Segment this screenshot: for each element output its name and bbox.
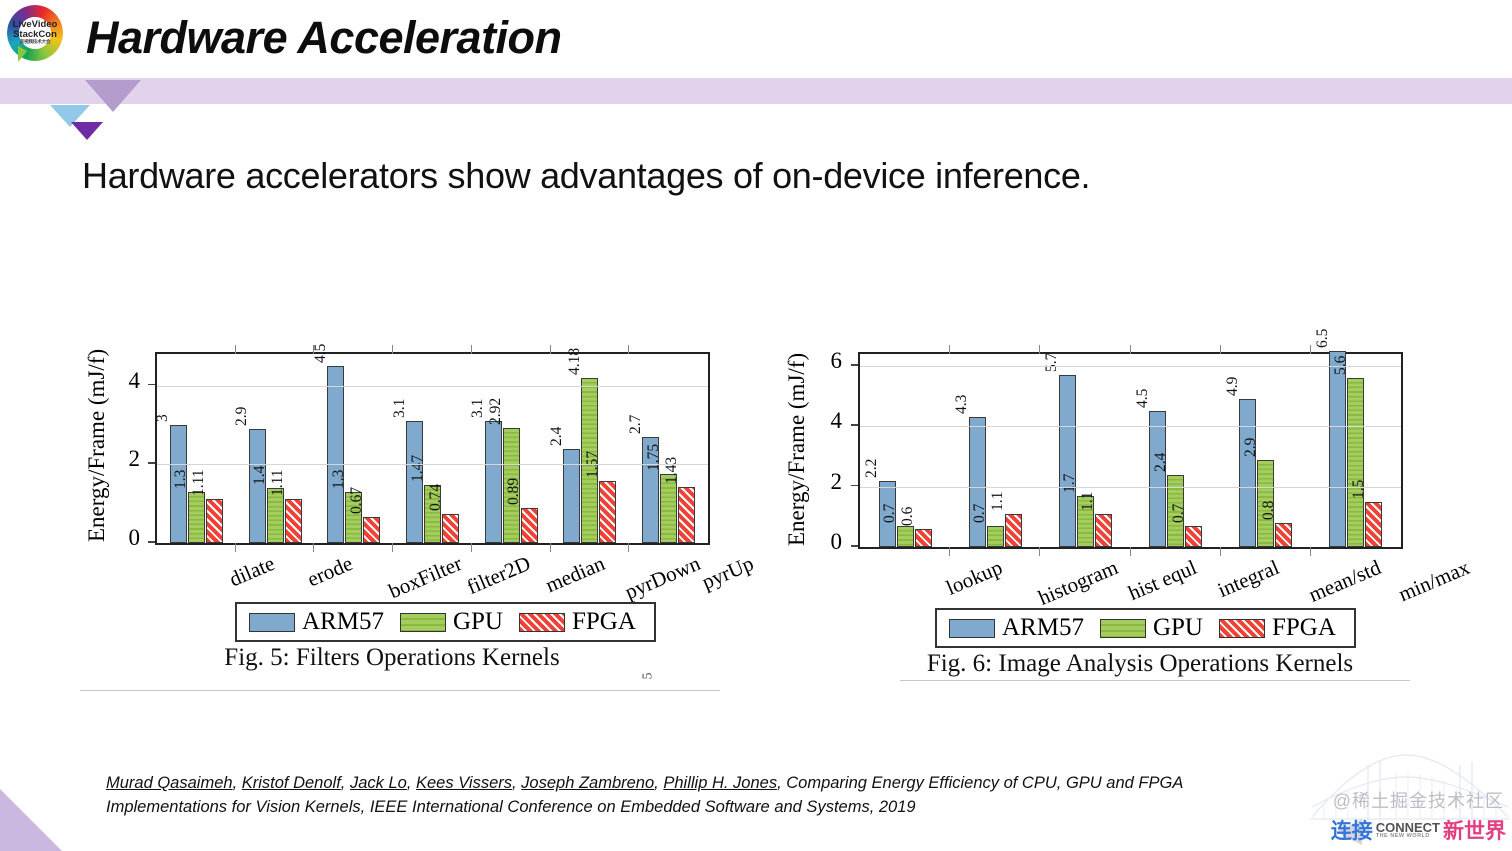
y-axis-tick-label: 2 (792, 469, 842, 495)
bar-value-label: 0.8 (1260, 501, 1278, 520)
bar-arm57: 3.1 (485, 421, 502, 543)
bar-value-label: 2.9 (1242, 437, 1260, 456)
bar-value-label: 0.67 (348, 487, 366, 514)
citation-author: Joseph Zambreno (521, 774, 654, 792)
bar-value-label: 1.4 (251, 466, 269, 485)
bar-group: 4.92.90.8 (1221, 354, 1311, 547)
bar-value-label: 1.11 (269, 470, 287, 497)
bar-group: 3.11.470.74 (393, 354, 472, 543)
bar-gpu: 1.4 (267, 488, 284, 543)
bar-value-label: 0.7 (971, 504, 989, 523)
bar-fpga: 1.5 (1365, 502, 1382, 547)
x-axis-category-label: dilate (225, 551, 278, 592)
bar-value-label: 1.11 (190, 470, 208, 497)
bar-value-label: 2.9 (233, 406, 251, 425)
decor-triangle-purple (85, 80, 141, 112)
legend-label: ARM57 (1002, 614, 1084, 642)
fig5-divider (80, 690, 720, 691)
y-axis-tick-mark (851, 364, 858, 366)
lead-statement: Hardware accelerators show advantages of… (82, 155, 1090, 197)
x-axis-category-label: mean/std (1305, 555, 1385, 608)
bar-group: 4.30.71.1 (950, 354, 1040, 547)
watermark-en: CONNECT THE NEW WORLD (1376, 821, 1440, 840)
bar-group: 5.71.71.1 (1040, 354, 1130, 547)
bar-value-label: 0.89 (505, 478, 523, 505)
fig5-caption: Fig. 5: Filters Operations Kernels (72, 644, 712, 672)
bar-group: 2.20.70.6 (860, 354, 950, 547)
bar-arm57: 4.5 (1149, 411, 1166, 547)
bar-arm57: 4.5 (327, 366, 344, 543)
x-axis-separator-top (1039, 345, 1040, 354)
y-axis-tick-mark (851, 424, 858, 426)
x-axis-separator (235, 543, 236, 552)
fig6-caption: Fig. 6: Image Analysis Operations Kernel… (820, 650, 1460, 678)
y-axis-tick-mark (148, 384, 155, 386)
bar-group: 3.12.920.89 (472, 354, 551, 543)
bar-value-label: 2.7 (627, 414, 645, 433)
watermark-cn1: 连接 (1331, 815, 1373, 845)
legend-item-gpu: GPU (1100, 614, 1209, 642)
decor-corner-triangle (0, 789, 62, 851)
x-axis-category-label: min/max (1395, 555, 1474, 607)
bar-group: 2.44.181.57 (551, 354, 630, 543)
bar-arm57: 4.3 (969, 417, 986, 547)
y-axis-tick-mark (851, 545, 858, 547)
bar-fpga: 0.8 (1275, 523, 1292, 547)
citation-author: Jack Lo (350, 774, 407, 792)
bar-value-label: 0.7 (881, 504, 899, 523)
bar-value-label: 4.9 (1224, 377, 1242, 396)
bar-gpu: 0.7 (987, 526, 1004, 547)
y-axis-tick-label: 0 (792, 529, 842, 555)
x-axis-separator (471, 543, 472, 552)
legend-item-gpu: GPU (400, 608, 509, 636)
bar-value-label: 1.1 (989, 491, 1007, 510)
x-axis-separator-top (392, 345, 393, 354)
x-axis-category-label: median (541, 551, 608, 598)
x-axis-separator (1130, 547, 1131, 556)
watermark-cn2: 新世界 (1443, 815, 1506, 845)
x-axis-separator (1310, 547, 1311, 556)
legend-swatch (1100, 619, 1146, 638)
bar-value-label: 1.5 (1350, 479, 1368, 498)
x-axis-separator (1039, 547, 1040, 556)
bar-value-label: 1.75 (645, 444, 663, 471)
bar-value-label: 3 (154, 414, 172, 422)
bar-group: 31.31.11 (157, 354, 236, 543)
livevideostackcon-logo: LiveVideo StackCon 音视频技术大会 (4, 2, 66, 70)
x-axis-category-label: pyrUp (698, 551, 757, 595)
gridline (157, 386, 708, 387)
watermark: @稀土掘金技术社区 连接 CONNECT THE NEW WORLD 新世界 (1282, 741, 1512, 851)
bar-value-label: 1.7 (1061, 473, 1079, 492)
x-axis-category-label: lookup (943, 555, 1006, 601)
legend-swatch (1219, 619, 1265, 638)
x-axis-category-label: pyrDown (622, 551, 705, 605)
fig6-y-axis-label: Energy/Frame (mJ/f) (784, 353, 810, 546)
bar-value-label: 1.43 (663, 457, 681, 484)
bar-group: 4.52.40.7 (1131, 354, 1221, 547)
bar-group: 2.91.41.11 (236, 354, 315, 543)
x-axis-separator-top (1220, 345, 1221, 354)
bar-fpga: 0.74 (442, 514, 459, 543)
bar-value-label: 4.5 (1134, 389, 1152, 408)
bar-value-label: 4.5 (312, 343, 330, 362)
legend-label: GPU (453, 608, 503, 636)
y-axis-tick-label: 0 (90, 525, 140, 551)
x-axis-category-label: erode (304, 551, 357, 592)
bar-group: 6.55.61.5 (1311, 354, 1401, 547)
bar-value-label: 2.92 (487, 398, 505, 425)
bar-gpu: 1.75 (660, 474, 677, 543)
bar-arm57: 4.9 (1239, 399, 1256, 547)
gridline (157, 464, 708, 465)
logo-line3: 音视频技术大会 (12, 40, 58, 45)
x-axis-category-label: boxFilter (385, 551, 466, 604)
fig6-plot-area: 2.20.70.64.30.71.15.71.71.14.52.40.74.92… (858, 352, 1403, 549)
legend-item-arm57: ARM57 (949, 614, 1090, 642)
x-axis-separator-top (1310, 345, 1311, 354)
y-axis-tick-mark (851, 485, 858, 487)
legend-item-arm57: ARM57 (249, 608, 390, 636)
bar-value-label: 1.3 (172, 469, 190, 488)
x-axis-separator-top (949, 345, 950, 354)
citation-author: Murad Qasaimeh (106, 774, 233, 792)
x-axis-separator-top (235, 345, 236, 354)
bar-gpu: 0.7 (897, 526, 914, 547)
logo-line2: StackCon (12, 30, 58, 40)
legend-label: GPU (1153, 614, 1203, 642)
bar-arm57: 5.7 (1059, 375, 1076, 547)
bar-value-label: 0.6 (899, 507, 917, 526)
bar-group: 2.71.751.43 (629, 354, 708, 543)
bar-fpga: 1.43 (678, 487, 695, 543)
bar-value-label: 0.74 (427, 484, 445, 511)
legend-item-fpga: FPGA (1219, 614, 1342, 642)
bar-value-label: 5.7 (1043, 353, 1061, 372)
gridline (860, 366, 1401, 367)
x-axis-separator-top (471, 345, 472, 354)
bar-fpga: 1.11 (285, 499, 302, 543)
bar-gpu: 1.3 (188, 492, 205, 543)
x-axis-separator (949, 547, 950, 556)
bar-fpga: 1.57 (599, 481, 616, 543)
x-axis-category-label: integral (1214, 555, 1283, 603)
x-axis-separator (550, 543, 551, 552)
bar-value-label: 4.3 (953, 395, 971, 414)
citation-author: Phillip H. Jones (663, 774, 777, 792)
bar-gpu: 5.6 (1347, 378, 1364, 547)
bar-fpga: 1.1 (1005, 514, 1022, 547)
legend-swatch (519, 613, 565, 632)
x-axis-separator (628, 543, 629, 552)
x-axis-category-label: histogram (1035, 555, 1122, 611)
x-axis-separator (313, 543, 314, 552)
bar-value-label: 2.4 (1152, 452, 1170, 471)
fig5-legend: ARM57GPUFPGA (235, 602, 656, 642)
figure-6: Energy/Frame (mJ/f) 2.20.70.64.30.71.15.… (780, 330, 1420, 690)
bar-value-label: 4.18 (566, 348, 584, 375)
y-axis-tick-label: 6 (792, 348, 842, 374)
decor-triangle-violet (71, 122, 103, 140)
y-axis-tick-mark (148, 541, 155, 543)
bar-value-label: 2.2 (863, 458, 881, 477)
legend-swatch (400, 613, 446, 632)
legend-item-fpga: FPGA (519, 608, 642, 636)
citation-author: Kristof Denolf (242, 774, 341, 792)
bar-value-label: 1.47 (409, 455, 427, 482)
x-axis-separator (1220, 547, 1221, 556)
bar-arm57: 2.9 (249, 429, 266, 543)
header-band (0, 78, 1512, 104)
bar-value-label: 3.1 (469, 399, 487, 418)
bar-fpga: 1.1 (1095, 514, 1112, 547)
bar-value-label: 1.1 (1079, 491, 1097, 510)
fig6-divider (900, 680, 1410, 681)
x-axis-separator-top (550, 345, 551, 354)
bar-value-label: 1.3 (330, 469, 348, 488)
x-axis-separator-top (628, 345, 629, 354)
bar-value-label: 0.7 (1170, 504, 1188, 523)
citation-author: Kees Vissers (416, 774, 512, 792)
fig5-plot-area: 31.31.112.91.41.114.51.30.673.11.470.743… (155, 352, 710, 545)
bar-group: 4.51.30.67 (314, 354, 393, 543)
y-axis-tick-label: 2 (90, 446, 140, 472)
y-axis-tick-label: 4 (90, 368, 140, 394)
figure-5: Energy/Frame (mJ/f) 31.31.112.91.41.114.… (80, 330, 720, 690)
citation-text: Murad Qasaimeh, Kristof Denolf, Jack Lo,… (106, 772, 1306, 820)
x-axis-category-label: hist equl (1124, 555, 1200, 606)
fig6-legend: ARM57GPUFPGA (935, 608, 1356, 648)
logo-speech-tail-icon (18, 46, 27, 62)
page-number: 5 (641, 673, 657, 680)
legend-swatch (249, 613, 295, 632)
bar-value-label: 3.1 (391, 399, 409, 418)
bar-fpga: 0.89 (521, 508, 538, 543)
bar-value-label: 2.4 (548, 426, 566, 445)
bar-arm57: 2.4 (563, 449, 580, 544)
x-axis-separator-top (1130, 345, 1131, 354)
legend-label: FPGA (572, 608, 636, 636)
bar-arm57: 6.5 (1329, 351, 1346, 547)
gridline (860, 487, 1401, 488)
legend-label: ARM57 (302, 608, 384, 636)
bar-fpga: 0.6 (915, 529, 932, 547)
legend-label: FPGA (1272, 614, 1336, 642)
watermark-handle: @稀土掘金技术社区 (1333, 787, 1504, 813)
bar-value-label: 6.5 (1314, 329, 1332, 348)
legend-swatch (949, 619, 995, 638)
bar-fpga: 0.67 (363, 517, 380, 543)
bar-fpga: 0.7 (1185, 526, 1202, 547)
x-axis-separator (392, 543, 393, 552)
bar-fpga: 1.11 (206, 499, 223, 543)
gridline (860, 426, 1401, 427)
x-axis-category-label: filter2D (463, 551, 534, 600)
y-axis-tick-mark (148, 462, 155, 464)
y-axis-tick-label: 4 (792, 408, 842, 434)
slide: LiveVideo StackCon 音视频技术大会 Hardware Acce… (0, 0, 1512, 851)
page-title: Hardware Acceleration (86, 12, 562, 64)
